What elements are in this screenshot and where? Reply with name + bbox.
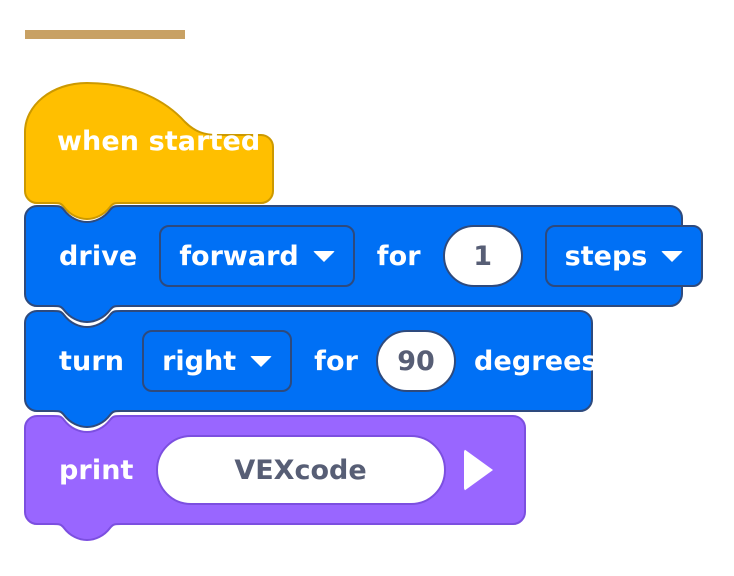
chevron-down-icon xyxy=(661,251,683,262)
chevron-down-icon xyxy=(313,251,335,262)
turn-for-label: for xyxy=(314,346,358,377)
top-divider-bar xyxy=(25,30,185,39)
print-text-value: VEXcode xyxy=(234,455,366,486)
turn-label: turn xyxy=(59,346,124,377)
print-label: print xyxy=(59,455,134,486)
chevron-down-icon xyxy=(250,356,272,367)
block-turn[interactable]: turn right for 90 degrees xyxy=(25,310,597,417)
block-print[interactable]: print VEXcode xyxy=(25,415,530,540)
drive-unit-value: steps xyxy=(565,241,648,272)
play-triangle-icon[interactable] xyxy=(464,449,493,491)
turn-direction-dropdown[interactable]: right xyxy=(142,330,292,392)
block-drive[interactable]: drive forward for 1 steps xyxy=(25,205,685,312)
drive-for-label: for xyxy=(377,241,421,272)
turn-degrees-value: 90 xyxy=(397,346,435,377)
turn-degrees-label: degrees xyxy=(474,346,598,377)
drive-direction-value: forward xyxy=(179,241,298,272)
when-started-label: when started xyxy=(57,126,260,157)
drive-direction-dropdown[interactable]: forward xyxy=(159,225,354,287)
drive-amount-value: 1 xyxy=(473,241,492,272)
workspace-canvas: when started drive forward for 1 xyxy=(0,0,734,576)
drive-amount-input[interactable]: 1 xyxy=(443,225,523,287)
turn-direction-value: right xyxy=(162,346,236,377)
drive-label: drive xyxy=(59,241,137,272)
print-text-input[interactable]: VEXcode xyxy=(156,435,446,505)
drive-unit-dropdown[interactable]: steps xyxy=(545,225,704,287)
block-when-started[interactable]: when started xyxy=(25,80,275,207)
main-script-stack: when started drive forward for 1 xyxy=(0,0,734,576)
turn-degrees-input[interactable]: 90 xyxy=(376,330,456,392)
